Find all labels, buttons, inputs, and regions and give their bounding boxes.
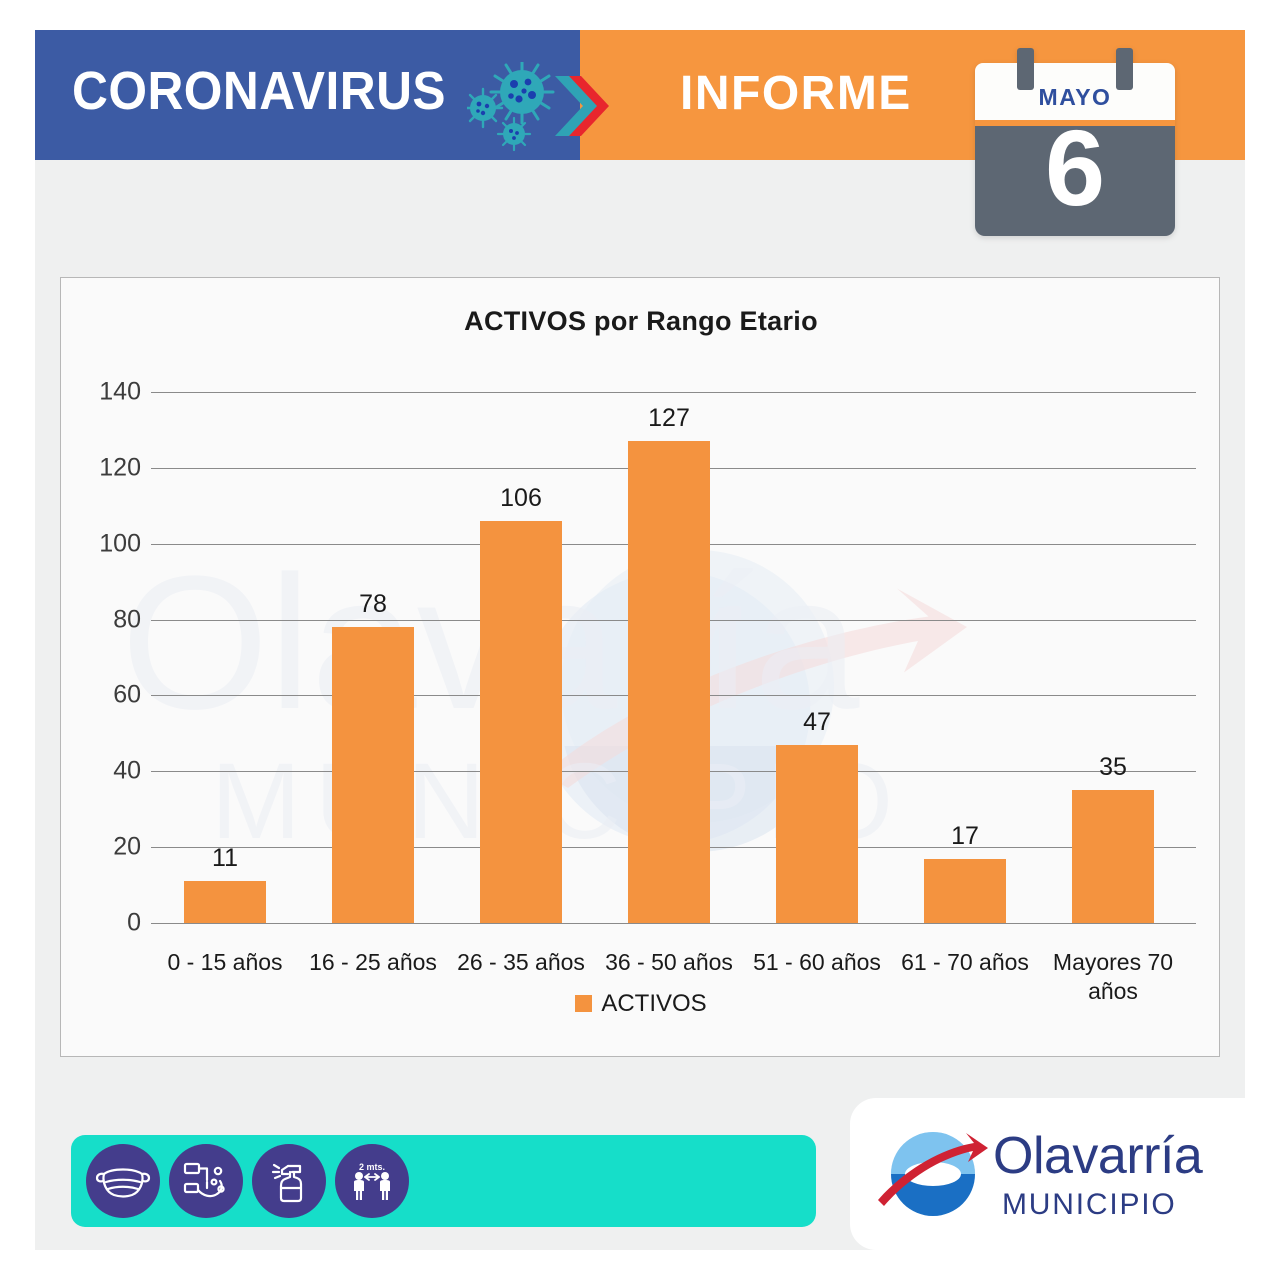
municipality-logo-card: Olavarría MUNICIPIO	[850, 1098, 1245, 1250]
bar-5[interactable]	[924, 859, 1006, 923]
bar-value-label: 35	[1058, 753, 1168, 782]
y-axis-tick: 120	[71, 454, 141, 483]
distance-text: 2 mts.	[359, 1162, 385, 1172]
bar-value-label: 106	[466, 484, 576, 513]
y-axis-tick: 140	[71, 378, 141, 407]
page-title: CORONAVIRUS	[72, 60, 446, 122]
bar-1[interactable]	[332, 627, 414, 923]
bar-2[interactable]	[480, 521, 562, 923]
x-axis-label: 0 - 15 años	[150, 948, 300, 977]
double-chevron-icon	[553, 72, 633, 140]
y-axis-tick: 40	[71, 757, 141, 786]
y-axis-tick: 0	[71, 909, 141, 938]
logo-subtitle: MUNICIPIO	[1002, 1190, 1177, 1220]
legend-label-activos: ACTIVOS	[601, 990, 706, 1017]
poster-canvas: CORONAVIRUS	[35, 30, 1245, 1250]
x-axis-label: 51 - 60 años	[742, 948, 892, 977]
chart-plot-area: 140 120 100 80 60 40 20 0 11 78 106 127 …	[151, 392, 1196, 923]
x-axis-label: 16 - 25 años	[298, 948, 448, 977]
olavarria-swoosh-logo	[878, 1128, 988, 1220]
x-axis-label: 36 - 50 años	[594, 948, 744, 977]
chart-legend: ACTIVOS	[61, 990, 1220, 1018]
bar-value-label: 11	[170, 844, 280, 873]
report-label: INFORME	[680, 66, 912, 121]
x-axis-label: 26 - 35 años	[446, 948, 596, 977]
x-axis-label: 61 - 70 años	[890, 948, 1040, 977]
logo-title: Olavarría	[993, 1130, 1202, 1182]
bar-6[interactable]	[1072, 790, 1154, 923]
bar-value-label: 17	[910, 822, 1020, 851]
y-axis-tick: 60	[71, 681, 141, 710]
bar-value-label: 47	[762, 708, 872, 737]
sanitizer-spray-icon	[252, 1144, 326, 1218]
bar-value-label: 78	[318, 590, 428, 619]
face-mask-icon	[86, 1144, 160, 1218]
y-axis-tick: 100	[71, 530, 141, 559]
y-axis-tick: 20	[71, 833, 141, 862]
social-distancing-icon: 2 mts.	[335, 1144, 409, 1218]
prevention-bar: 2 mts.	[71, 1135, 816, 1227]
calendar-day: 6	[975, 114, 1175, 222]
legend-swatch-activos	[575, 995, 592, 1012]
gridline-140	[151, 392, 1196, 393]
calendar-widget: MAYO 6	[975, 48, 1175, 244]
chart-panel: Olavarr ía MUNICIPIO ACTIVOS por Rango E…	[60, 277, 1220, 1057]
y-axis-tick: 80	[71, 606, 141, 635]
chart-title: ACTIVOS por Rango Etario	[61, 306, 1220, 337]
bar-value-label: 127	[614, 404, 724, 433]
bar-0[interactable]	[184, 881, 266, 923]
axis-baseline	[151, 923, 1196, 924]
bar-3[interactable]	[628, 441, 710, 923]
bar-4[interactable]	[776, 745, 858, 923]
hand-washing-icon	[169, 1144, 243, 1218]
